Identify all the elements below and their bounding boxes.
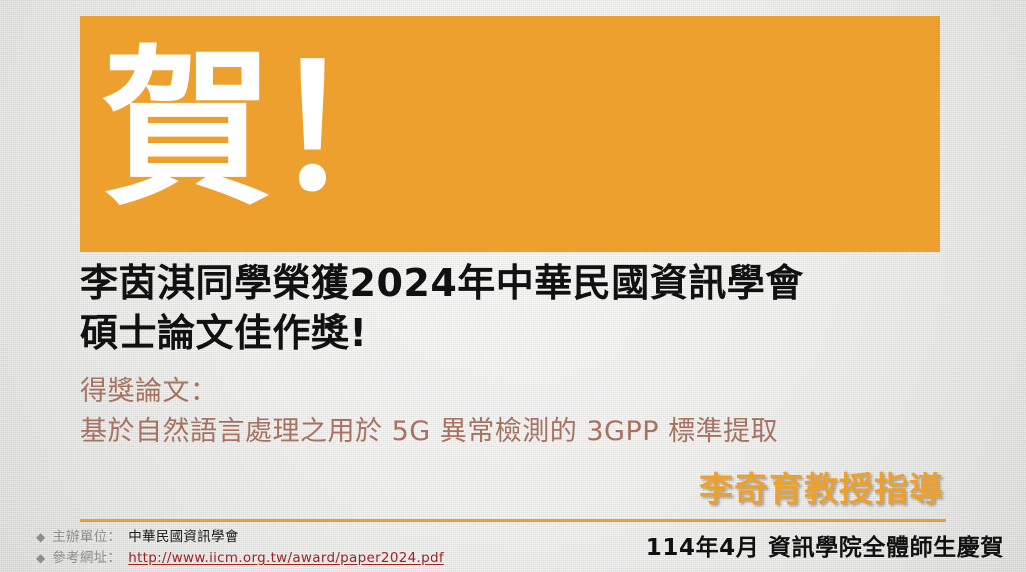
celebration-slide: 賀！ 李茵淇同學榮獲2024年中華民國資訊學會 碩士論文佳作獎! 得獎論文： 基… bbox=[0, 0, 1026, 572]
footer-credit: 114年4月 資訊學院全體師生慶賀 bbox=[646, 531, 1004, 565]
headline-line-2: 碩士論文佳作獎! bbox=[80, 308, 980, 358]
headline: 李茵淇同學榮獲2024年中華民國資訊學會 碩士論文佳作獎! bbox=[80, 258, 980, 358]
footer-notes: ◆ 主辦單位： 中華民國資訊學會 ◆ 參考網址： http://www.iicm… bbox=[36, 527, 556, 569]
note-row-reference-url: ◆ 參考網址： http://www.iicm.org.tw/award/pap… bbox=[36, 548, 556, 569]
hero-orange-block: 賀！ bbox=[80, 16, 940, 252]
footer-divider-rule bbox=[80, 519, 946, 522]
organizer-value: 中華民國資訊學會 bbox=[128, 527, 238, 548]
congratulations-character: 賀！ bbox=[102, 12, 438, 248]
diamond-bullet-icon: ◆ bbox=[36, 527, 45, 548]
paper-title-label: 得獎論文： bbox=[80, 372, 980, 412]
note-row-organizer: ◆ 主辦單位： 中華民國資訊學會 bbox=[36, 527, 556, 548]
advisor-credit: 李奇育教授指導 bbox=[699, 468, 944, 512]
diamond-bullet-icon: ◆ bbox=[36, 548, 45, 569]
paper-title-text: 基於自然語言處理之用於 5G 異常檢測的 3GPP 標準提取 bbox=[80, 412, 980, 452]
reference-url-label: 參考網址： bbox=[52, 548, 121, 569]
organizer-label: 主辦單位： bbox=[52, 527, 121, 548]
paper-title-block: 得獎論文： 基於自然語言處理之用於 5G 異常檢測的 3GPP 標準提取 bbox=[80, 372, 980, 452]
reference-url-link[interactable]: http://www.iicm.org.tw/award/paper2024.p… bbox=[128, 548, 444, 569]
headline-line-1: 李茵淇同學榮獲2024年中華民國資訊學會 bbox=[80, 258, 980, 308]
